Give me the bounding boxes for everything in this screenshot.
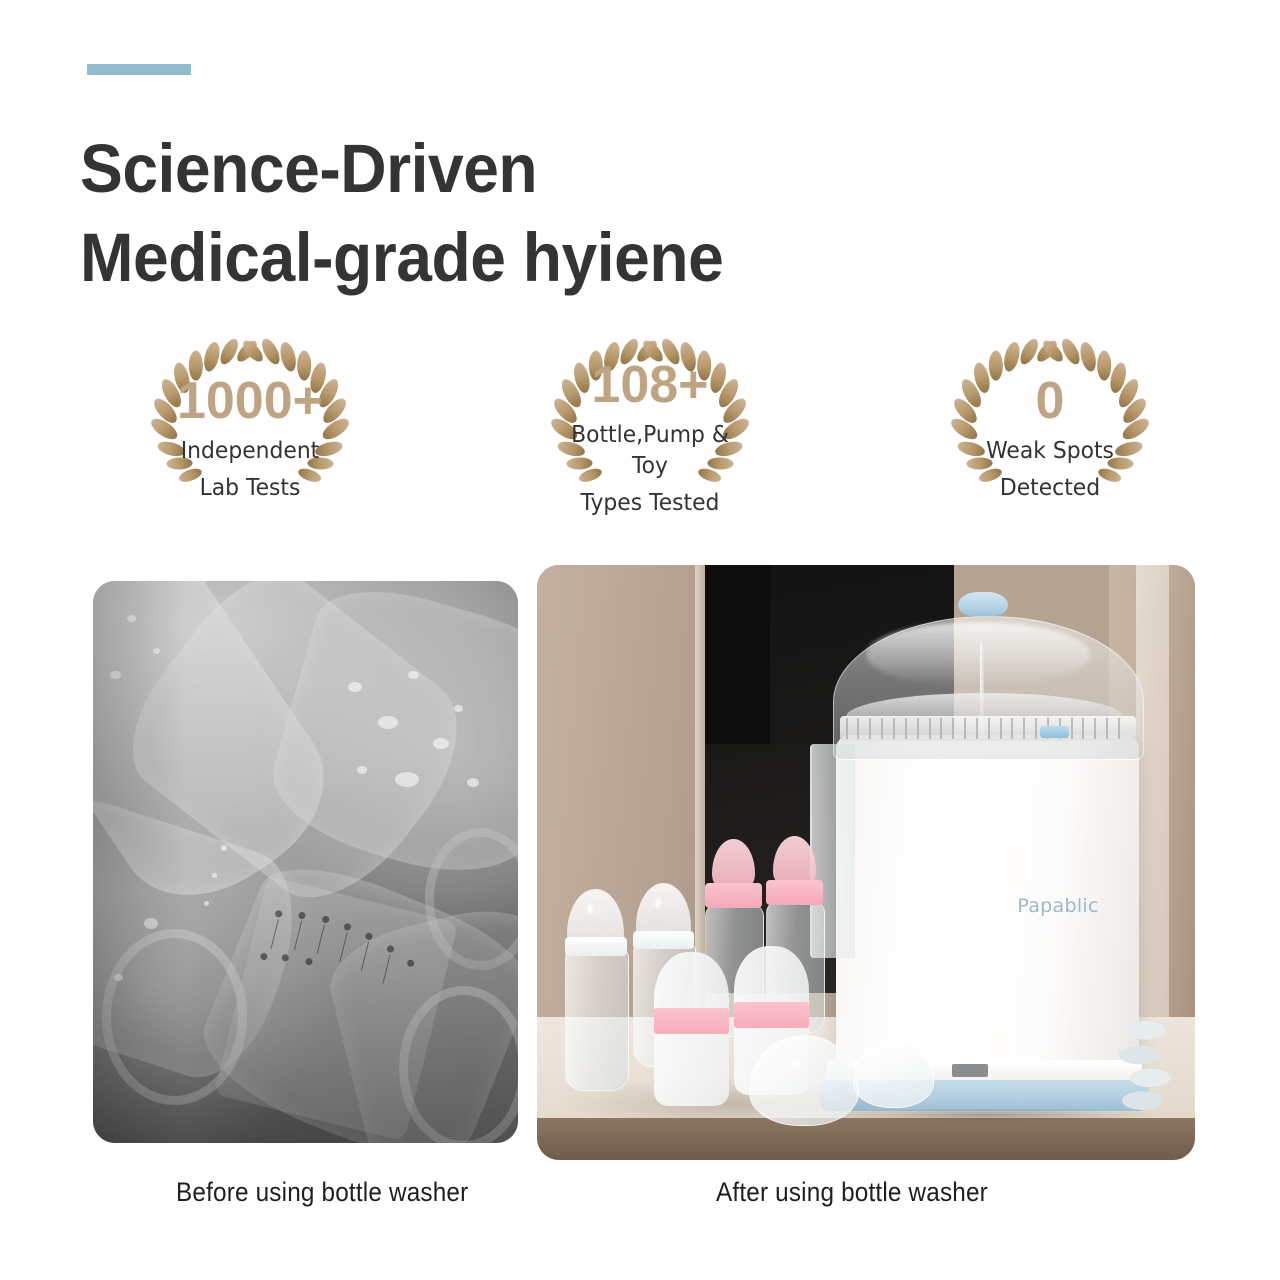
- stat-number: 1000+: [145, 372, 355, 430]
- stat-number: 108+: [545, 356, 755, 414]
- stat-badge-text: 0 Weak Spots Detected: [945, 362, 1155, 504]
- lid-latch[interactable]: [1040, 726, 1069, 738]
- stat-caption-line-1: Bottle,Pump & Toy: [550, 420, 750, 482]
- after-image: Papablic: [537, 565, 1195, 1160]
- bottle-collar: [565, 937, 628, 956]
- cabinet-right-trim: [1136, 565, 1169, 1077]
- after-caption: After using bottle washer: [716, 1177, 988, 1208]
- stat-badge-text: 108+ Bottle,Pump & Toy Types Tested: [545, 346, 755, 519]
- stat-caption-line-2: Lab Tests: [150, 473, 350, 504]
- pink-bottle-collar: [705, 883, 762, 908]
- control-display: [952, 1064, 988, 1077]
- dome-highlight: [866, 622, 1090, 687]
- brand-logo: Papablic: [1017, 895, 1098, 917]
- stat-number: 0: [945, 372, 1155, 430]
- dark-recess-deep: [704, 565, 770, 744]
- dome-knob[interactable]: [958, 592, 1008, 616]
- before-photo-vignette: [93, 581, 518, 1143]
- before-caption: Before using bottle washer: [176, 1177, 468, 1208]
- pink-ring: [654, 1008, 729, 1034]
- pink-ring: [734, 1002, 809, 1028]
- stat-caption-line-2: Types Tested: [550, 488, 750, 519]
- bottle-collar: [633, 931, 694, 949]
- sterilizer-drying-rack: [840, 716, 1136, 741]
- stat-caption-line-2: Detected: [950, 473, 1150, 504]
- glass-bottle: [565, 946, 630, 1091]
- stat-caption-line-1: Independent: [150, 436, 350, 467]
- stat-badge-text: 1000+ Independent Lab Tests: [145, 362, 355, 504]
- comparison-panels: Papablic: [0, 0, 1280, 1280]
- power-cord: [1106, 1017, 1185, 1112]
- after-photo-scene: Papablic: [537, 565, 1195, 1160]
- stat-caption-line-1: Weak Spots: [950, 436, 1150, 467]
- before-image: [93, 581, 518, 1143]
- pink-bottle-collar: [766, 880, 823, 905]
